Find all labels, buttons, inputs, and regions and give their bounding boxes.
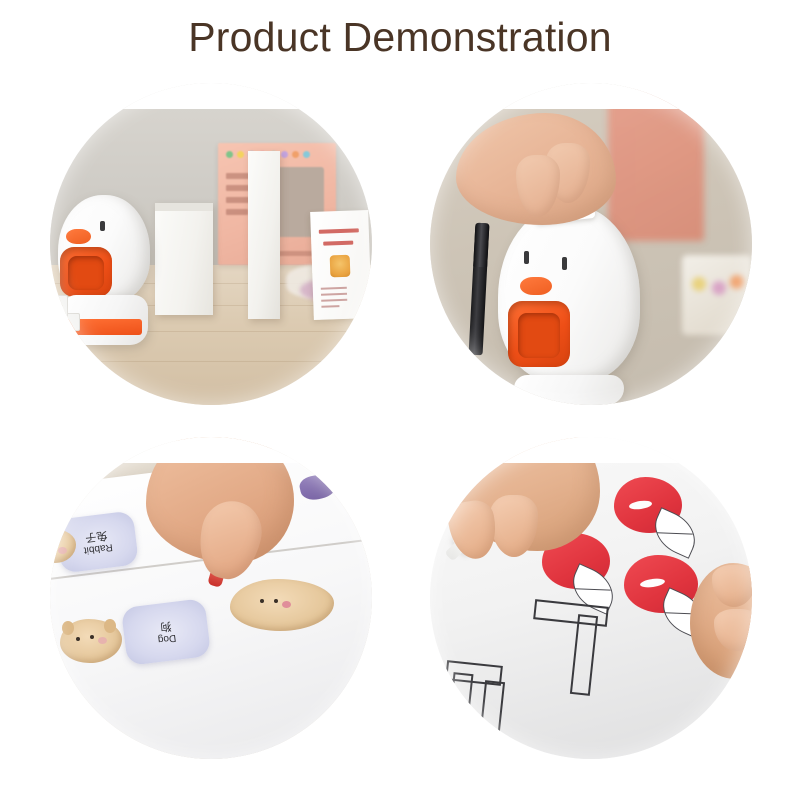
flashcard-label-dog: 狗 Dog — [121, 598, 211, 666]
flashcard-english-dog: Dog — [157, 631, 177, 644]
chick-laminator-device — [54, 195, 162, 345]
device-beak-icon — [66, 229, 91, 244]
pen-cap — [473, 223, 489, 268]
scene-coloring-flashcards: 兔子 Rabbit 狗 Dog — [50, 437, 372, 759]
device-beak-icon — [520, 277, 552, 295]
photo-coloring-apples[interactable]: ACR — [430, 437, 752, 759]
device-eye-left — [524, 251, 529, 264]
box-lid — [155, 203, 213, 211]
ejected-card-2 — [50, 295, 68, 317]
flashcard-chinese-dog: 狗 — [159, 620, 171, 633]
apple-highlight — [629, 499, 653, 510]
device-mouth-slot — [60, 247, 112, 297]
device-eye-right — [562, 257, 567, 270]
chick-laminator-device — [488, 205, 660, 405]
device-base — [514, 375, 624, 405]
scene-inserting-card — [430, 83, 752, 405]
photo-product-with-packaging[interactable] — [50, 83, 372, 405]
device-eye — [100, 221, 105, 231]
scene-coloring-apples: ACR — [430, 437, 752, 759]
scene-product-with-packaging — [50, 83, 372, 405]
device-mouth-slot — [508, 301, 570, 367]
page-title: Product Demonstration — [0, 14, 800, 61]
user-manual — [310, 210, 372, 320]
manual-chick-graphic — [330, 255, 351, 278]
photo-coloring-flashcards[interactable]: 兔子 Rabbit 狗 Dog — [50, 437, 372, 759]
product-box-slim — [248, 151, 280, 319]
photo-gallery-grid: 兔子 Rabbit 狗 Dog — [0, 80, 800, 780]
product-box-tall — [155, 203, 213, 315]
photo-inserting-card[interactable] — [430, 83, 752, 405]
wall-upper-band — [50, 83, 372, 105]
blurred-basket — [682, 255, 752, 335]
apple-highlight — [640, 578, 666, 590]
